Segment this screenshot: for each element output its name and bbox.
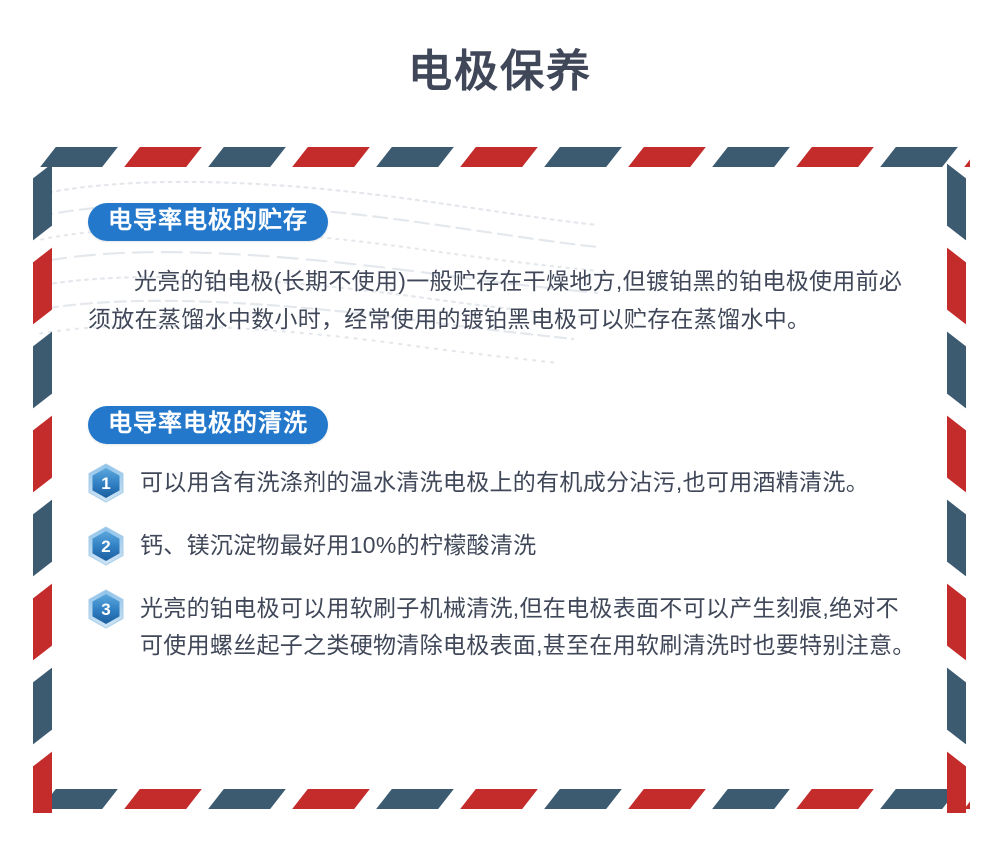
hexagon-number-icon: 1 [88,463,124,503]
envelope-stripe [947,668,966,745]
list-item: 3 光亮的铂电极可以用软刷子机械清洗,但在电极表面不可以产生刻痕,绝对不可使用螺… [88,588,916,664]
envelope-stripe [544,789,622,809]
envelope-stripe [33,752,52,813]
envelope-stripe [712,147,790,167]
envelope-stripe [292,789,370,809]
envelope-stripe [628,789,706,809]
envelope-stripe [33,248,52,325]
hexagon-number-icon: 3 [88,589,124,629]
envelope-stripe [628,147,706,167]
section-cleaning: 电导率电极的清洗 [88,406,916,664]
envelope-stripe [544,147,622,167]
list-item: 1 可以用含有洗涤剂的温水清洗电极上的有机成分沾污,也可用酒精清洗。 [88,462,916,503]
envelope-stripe [33,332,52,409]
list-item-text: 光亮的铂电极可以用软刷子机械清洗,但在电极表面不可以产生刻痕,绝对不可使用螺丝起… [140,588,916,664]
envelope-frame: 电导率电极的贮存 光亮的铂电极(长期不使用)一般贮存在干燥地方,但镀铂黑的铂电极… [30,145,970,813]
envelope-stripe [33,584,52,661]
envelope-stripe [947,248,966,325]
envelope-inner: 电导率电极的贮存 光亮的铂电极(长期不使用)一般贮存在干燥地方,但镀铂黑的铂电极… [30,145,970,813]
envelope-stripe [208,789,286,809]
cleaning-steps-list: 1 可以用含有洗涤剂的温水清洗电极上的有机成分沾污,也可用酒精清洗。 2 [88,462,916,664]
envelope-stripe [947,584,966,661]
hexagon-number-text: 1 [101,474,110,493]
envelope-stripe [33,668,52,745]
envelope-stripe [460,147,538,167]
envelope-edge-right [944,145,970,813]
envelope-edge-left [30,145,56,813]
envelope-stripe [292,147,370,167]
envelope-stripe [33,416,52,493]
hexagon-number-icon: 2 [88,526,124,566]
section-gap [88,338,916,406]
envelope-stripe [124,147,202,167]
envelope-stripe [796,147,874,167]
section-badge-storage: 电导率电极的贮存 [88,203,328,241]
envelope-stripe [947,416,966,493]
envelope-stripe [947,164,966,241]
list-item-text: 可以用含有洗涤剂的温水清洗电极上的有机成分沾污,也可用酒精清洗。 [140,462,869,501]
envelope-stripe [947,332,966,409]
list-item-text: 钙、镁沉淀物最好用10%的柠檬酸清洗 [140,525,536,564]
list-item: 2 钙、镁沉淀物最好用10%的柠檬酸清洗 [88,525,916,566]
envelope-stripe [376,789,454,809]
hexagon-number-text: 2 [101,537,110,556]
hexagon-number-text: 3 [101,600,110,619]
section-storage: 电导率电极的贮存 光亮的铂电极(长期不使用)一般贮存在干燥地方,但镀铂黑的铂电极… [88,203,916,338]
envelope-edge-top [30,145,970,171]
envelope-stripe [376,147,454,167]
envelope-stripe [947,500,966,577]
envelope-stripe [796,789,874,809]
envelope-stripe [460,789,538,809]
envelope-stripe [947,752,966,813]
envelope-stripe [712,789,790,809]
envelope-edge-bottom [30,787,970,813]
content-area: 电导率电极的贮存 光亮的铂电极(长期不使用)一般贮存在干燥地方,但镀铂黑的铂电极… [88,203,916,664]
envelope-stripe [33,500,52,577]
page-title: 电极保养 [0,0,1000,104]
section-badge-cleaning: 电导率电极的清洗 [88,406,328,444]
envelope-stripe [124,789,202,809]
envelope-stripe [208,147,286,167]
envelope-stripe [33,164,52,241]
storage-paragraph: 光亮的铂电极(长期不使用)一般贮存在干燥地方,但镀铂黑的铂电极使用前必须放在蒸馏… [88,263,916,338]
